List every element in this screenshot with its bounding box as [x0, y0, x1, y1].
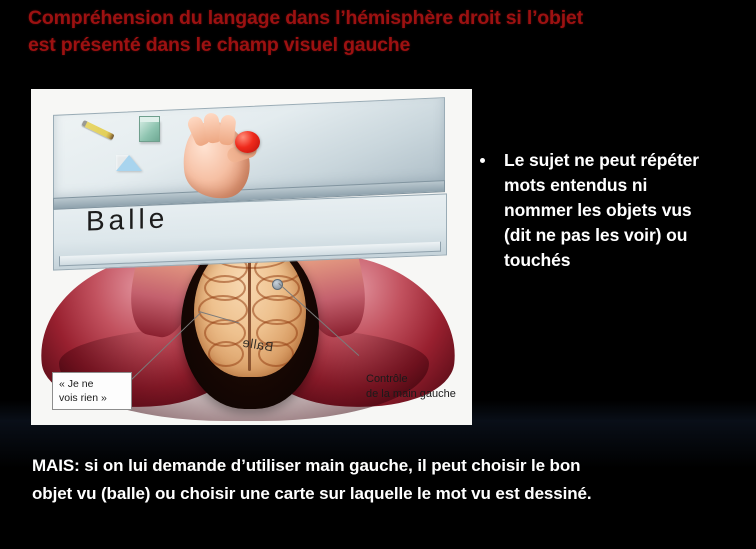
bullet-marker-icon — [480, 158, 485, 163]
bottom-paragraph: MAIS: si on lui demande d’utiliser main … — [32, 452, 732, 508]
slide-title: Compréhension du langage dans l’hémisphè… — [28, 5, 728, 59]
illustration-canvas: Balle Balle « Je ne vois rien » — [31, 89, 472, 425]
brain-gyrus — [208, 341, 244, 367]
brain-longitudinal-fissure — [248, 247, 251, 371]
green-cube-object — [139, 120, 160, 142]
illustration-image: Balle Balle « Je ne vois rien » — [31, 89, 472, 425]
caption-controle-main-gauche: Contrôle de la main gauche — [366, 372, 456, 402]
bullet-list: Le sujet ne peut répéter mots entendus n… — [478, 148, 748, 273]
bullet-item-text: Le sujet ne peut répéter mots entendus n… — [504, 148, 748, 273]
red-ball-object — [235, 131, 260, 153]
slide: Compréhension du langage dans l’hémisphè… — [0, 0, 756, 549]
callout-je-ne-vois-rien: « Je ne vois rien » — [52, 372, 132, 410]
blue-pyramid-object — [116, 155, 142, 171]
